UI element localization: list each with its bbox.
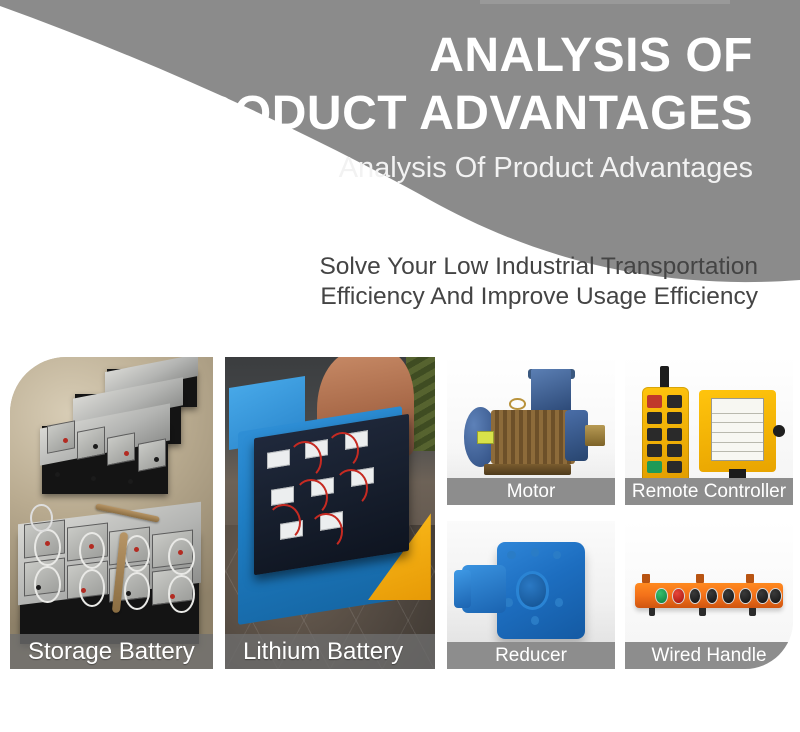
tagline-block: Solve Your Low Industrial Transportation… — [0, 252, 800, 312]
product-caption-reducer: Reducer — [447, 642, 615, 669]
product-caption-wired-handle: Wired Handle — [625, 642, 793, 669]
lithium-battery-photo — [225, 357, 435, 669]
product-tile-remote-controller[interactable]: Remote Controller — [625, 357, 793, 505]
hero-title-line-2: PRODUCT ADVANTAGES — [0, 90, 753, 138]
product-caption-motor: Motor — [447, 478, 615, 505]
product-caption-storage-battery: Storage Battery — [10, 634, 213, 669]
product-tile-lithium-battery[interactable]: Lithium Battery — [225, 357, 435, 669]
product-image-grid: Storage Battery — [0, 357, 800, 669]
product-tile-wired-handle[interactable]: Wired Handle — [625, 521, 793, 669]
hero-text-block: ANALYSIS OF PRODUCT ADVANTAGES Analysis … — [0, 0, 800, 183]
hero-title-line-1: ANALYSIS OF — [0, 32, 753, 80]
tagline-line-1: Solve Your Low Industrial Transportation — [0, 252, 758, 282]
product-caption-remote-controller: Remote Controller — [625, 478, 793, 505]
product-tile-storage-battery[interactable]: Storage Battery — [10, 357, 213, 669]
product-tile-motor[interactable]: Motor — [447, 357, 615, 505]
storage-battery-photo — [10, 357, 213, 669]
product-advantages-page: ANALYSIS OF PRODUCT ADVANTAGES Analysis … — [0, 0, 800, 732]
tagline-line-2: Efficiency And Improve Usage Efficiency — [0, 282, 758, 312]
hero-subtitle: Analysis Of Product Advantages — [0, 154, 753, 183]
product-tile-reducer[interactable]: Reducer — [447, 521, 615, 669]
product-caption-lithium-battery: Lithium Battery — [225, 634, 435, 669]
